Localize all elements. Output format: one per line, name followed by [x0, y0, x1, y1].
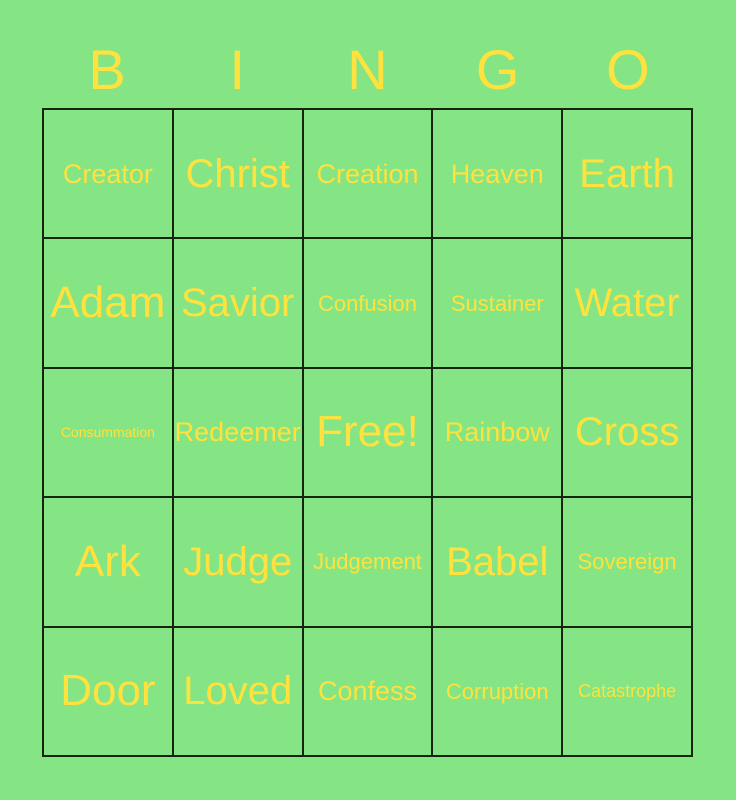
bingo-cell-label: Creator	[60, 160, 156, 188]
header-letter-o: O	[563, 34, 693, 106]
bingo-cell[interactable]: Cross	[563, 369, 693, 498]
bingo-cell[interactable]: Redeemer	[174, 369, 304, 498]
bingo-cell[interactable]: Confess	[304, 628, 434, 757]
bingo-cell-label: Ark	[72, 539, 144, 585]
bingo-cell[interactable]: Ark	[44, 498, 174, 627]
bingo-cell-label: Door	[57, 668, 158, 714]
bingo-cell-label-free: Free!	[313, 409, 422, 455]
bingo-header: B I N G O	[42, 34, 693, 106]
bingo-cell-label: Savior	[178, 282, 297, 324]
bingo-cell[interactable]: Adam	[44, 239, 174, 368]
bingo-cell-label: Confusion	[315, 292, 420, 315]
bingo-cell-label: Consummation	[58, 425, 158, 440]
bingo-cell-label: Rainbow	[442, 418, 553, 446]
bingo-cell-label: Heaven	[448, 160, 547, 188]
bingo-cell[interactable]: Rainbow	[433, 369, 563, 498]
bingo-cell-label: Earth	[576, 153, 678, 195]
bingo-cell[interactable]: Sovereign	[563, 498, 693, 627]
bingo-cell-label: Judge	[180, 541, 295, 583]
bingo-cell[interactable]: Door	[44, 628, 174, 757]
bingo-cell-label: Redeemer	[174, 418, 304, 446]
bingo-cell-label: Sustainer	[448, 292, 547, 315]
bingo-cell-label: Loved	[180, 670, 295, 712]
bingo-cell-label: Judgement	[310, 550, 425, 573]
bingo-cell[interactable]: Judgement	[304, 498, 434, 627]
bingo-cell[interactable]: Babel	[433, 498, 563, 627]
bingo-cell[interactable]: Judge	[174, 498, 304, 627]
bingo-cell[interactable]: Catastrophe	[563, 628, 693, 757]
header-letter-b: B	[42, 34, 172, 106]
bingo-cell-label: Corruption	[443, 680, 552, 703]
bingo-cell[interactable]: Corruption	[433, 628, 563, 757]
bingo-cell[interactable]: Water	[563, 239, 693, 368]
bingo-cell[interactable]: Creation	[304, 110, 434, 239]
bingo-cell[interactable]: Heaven	[433, 110, 563, 239]
bingo-cell-label: Babel	[443, 541, 551, 583]
bingo-cell-label: Confess	[315, 677, 420, 705]
header-letter-n: N	[302, 34, 432, 106]
bingo-cell-label: Cross	[572, 411, 682, 453]
bingo-cell[interactable]: Consummation	[44, 369, 174, 498]
header-letter-g: G	[433, 34, 563, 106]
bingo-cell-free[interactable]: Free!	[304, 369, 434, 498]
bingo-cell-label: Creation	[313, 160, 421, 188]
bingo-cell-label: Water	[571, 282, 682, 324]
bingo-cell[interactable]: Earth	[563, 110, 693, 239]
bingo-cell[interactable]: Savior	[174, 239, 304, 368]
bingo-cell[interactable]: Confusion	[304, 239, 434, 368]
bingo-cell-label: Catastrophe	[575, 682, 679, 701]
bingo-cell[interactable]: Creator	[44, 110, 174, 239]
bingo-cell[interactable]: Christ	[174, 110, 304, 239]
bingo-grid: Creator Christ Creation Heaven Earth Ada…	[42, 108, 693, 757]
bingo-cell-label: Adam	[47, 280, 168, 326]
bingo-cell[interactable]: Sustainer	[433, 239, 563, 368]
bingo-card: B I N G O Creator Christ Creation Heaven…	[0, 0, 736, 800]
header-letter-i: I	[172, 34, 302, 106]
bingo-cell-label: Christ	[182, 153, 292, 195]
bingo-cell-label: Sovereign	[575, 550, 680, 573]
bingo-cell[interactable]: Loved	[174, 628, 304, 757]
